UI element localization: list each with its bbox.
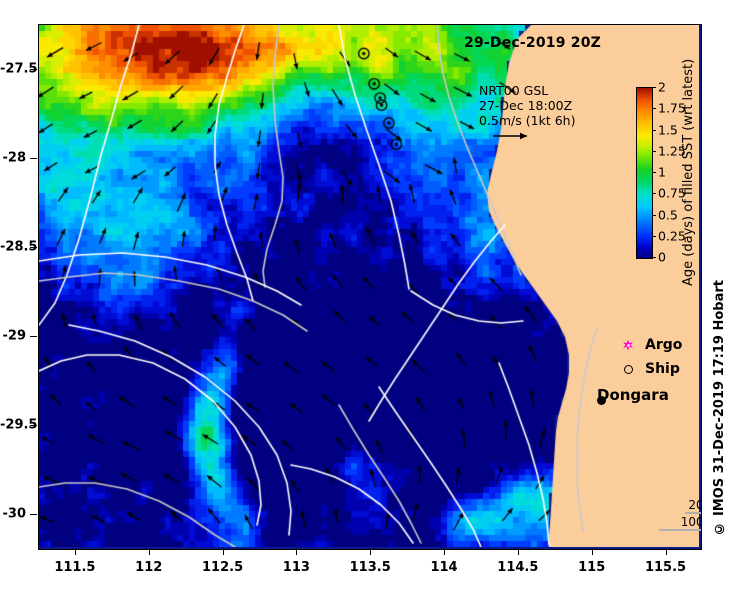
colorbar-tick-label: 0.5 (658, 207, 678, 222)
y-tick-label: -28.5 (0, 239, 26, 254)
vector-key: NRT00 GSL 27-Dec 18:00Z 0.5m/s (1kt 6h) (479, 83, 575, 143)
legend-label-ship: Ship (645, 361, 680, 377)
x-tick (75, 548, 76, 555)
dongara-label: Dongara (597, 386, 669, 404)
ship-markers-canvas (39, 25, 699, 547)
colorbar-tick (652, 236, 656, 237)
y-tick-label: -29.5 (0, 417, 26, 432)
x-tick-label: 114.5 (497, 560, 538, 575)
legend-label-argo: Argo (645, 337, 682, 353)
x-tick-label: 114 (430, 560, 457, 575)
colorbar-tick (652, 257, 656, 258)
colorbar-tick (652, 151, 656, 152)
x-tick-label: 112 (135, 560, 162, 575)
colorbar-title: Age (days) of filled SST (wrt latest) (681, 87, 696, 257)
colorbar-tick-label: 1.5 (658, 122, 678, 137)
y-tick (30, 336, 37, 337)
y-tick (30, 158, 37, 159)
x-tick-label: 115.5 (645, 560, 686, 575)
scale-bar-200m: 200m (637, 497, 702, 514)
colorbar-tick (652, 108, 656, 109)
scale-bar-1000m-line (659, 529, 702, 531)
colorbar-tick (652, 193, 656, 194)
x-tick (149, 548, 150, 555)
x-tick (223, 548, 224, 555)
map-plot-area[interactable]: 29-Dec-2019 20Z NRT00 GSL 27-Dec 18:00Z … (38, 24, 702, 550)
marker-legend: Argo Ship (617, 335, 682, 383)
scale-bar-200m-label: 200m (688, 498, 702, 512)
colorbar (636, 87, 653, 259)
ship-marker-icon (617, 365, 639, 374)
map-raster-clip (39, 25, 701, 549)
x-tick (666, 548, 667, 555)
x-tick (592, 548, 593, 555)
vector-key-arrow-icon (491, 129, 539, 143)
colorbar-tick (652, 215, 656, 216)
y-tick-label: -27.5 (0, 61, 26, 76)
y-tick (30, 514, 37, 515)
vector-key-time: 27-Dec 18:00Z (479, 98, 575, 113)
colorbar-tick (652, 87, 656, 88)
colorbar-tick-label: 2 (658, 80, 666, 95)
scale-bar-1000m-label: 1000m (681, 515, 702, 529)
x-tick (370, 548, 371, 555)
x-tick (444, 548, 445, 555)
colorbar-tick (652, 130, 656, 131)
x-tick (518, 548, 519, 555)
y-tick-label: -29 (0, 328, 26, 343)
date-stamp: 29-Dec-2019 20Z (464, 35, 601, 51)
scale-bar-1000m: 1000m (637, 514, 702, 531)
x-tick-label: 111.5 (54, 560, 95, 575)
x-tick-label: 113.5 (350, 560, 391, 575)
legend-row-ship: Ship (617, 359, 682, 379)
x-tick-label: 115 (578, 560, 605, 575)
vector-key-speed: 0.5m/s (1kt 6h) (479, 113, 575, 128)
credit-text: © IMOS 31-Dec-2019 17:19 Hobart (712, 280, 727, 536)
y-tick-label: -30 (0, 506, 26, 521)
colorbar-tick-label: 1 (658, 165, 666, 180)
vector-key-source: NRT00 GSL (479, 83, 575, 98)
scale-bars: 200m 1000m (637, 497, 702, 531)
y-tick-label: -28 (0, 150, 26, 165)
map-figure: 29-Dec-2019 20Z NRT00 GSL 27-Dec 18:00Z … (0, 0, 739, 592)
x-tick-label: 112.5 (202, 560, 243, 575)
colorbar-tick-label: 0 (658, 250, 666, 265)
x-tick (296, 548, 297, 555)
legend-row-argo: Argo (617, 335, 682, 355)
x-tick-label: 113 (283, 560, 310, 575)
colorbar-tick (652, 172, 656, 173)
argo-marker-icon (617, 340, 639, 351)
